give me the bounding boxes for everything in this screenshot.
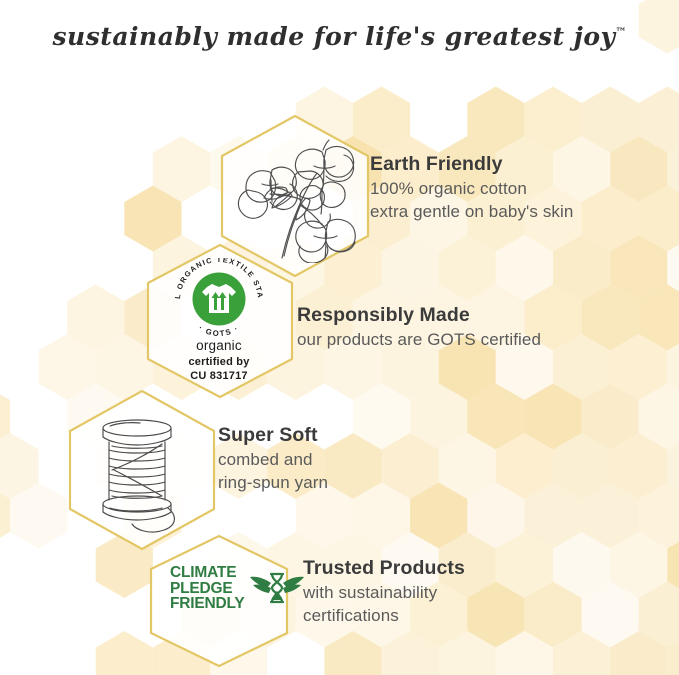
svg-text:· GOTS ·: · GOTS · [197,323,241,338]
gots-certificate-code: CU 831717 [139,370,299,384]
feature-text-earth-friendly: Earth Friendly 100% organic cotton extra… [370,152,573,223]
feature-title: Super Soft [218,423,328,447]
feature-line: extra gentle on baby's skin [370,201,573,223]
feature-title: Responsibly Made [297,303,541,327]
winged-hourglass-icon [250,567,304,609]
trademark-symbol: ™ [616,26,627,39]
gots-organic-label: organic [139,338,299,353]
gots-organic-certification-icon: GLOBAL ORGANIC TEXTILE STANDARD · GOTS · [165,258,273,338]
gots-certified-by-label: certified by [139,356,299,370]
feature-title: Earth Friendly [370,152,573,176]
cpf-line-1: CLIMATE [170,565,244,581]
climate-pledge-wordmark: CLIMATE PLEDGE FRIENDLY [170,565,244,612]
feature-line: 100% organic cotton [370,178,573,200]
feature-line: combed and [218,449,328,471]
headline-text: sustainably made for life's greatest joy [52,22,615,51]
cpf-line-2: PLEDGE [170,581,244,597]
feature-line: our products are GOTS certified [297,329,541,351]
thread-spool-sketch-icon [76,404,208,538]
promo-infographic: sustainably made for life's greatest joy… [0,0,679,675]
cpf-line-3: FRIENDLY [170,596,244,612]
feature-title: Trusted Products [303,556,465,580]
feature-line: ring-spun yarn [218,472,328,494]
climate-pledge-friendly-icon: CLIMATE PLEDGE FRIENDLY [170,565,304,612]
feature-line: with sustainability [303,582,465,604]
feature-text-super-soft: Super Soft combed and ring-spun yarn [218,423,328,494]
feature-line: certifications [303,605,465,627]
page-headline: sustainably made for life's greatest joy… [0,22,679,51]
gots-caption: organic certified by CU 831717 [139,338,299,384]
feature-text-trusted-products: Trusted Products with sustainability cer… [303,556,465,627]
cotton-branch-sketch-icon [226,128,366,263]
feature-text-responsibly-made: Responsibly Made our products are GOTS c… [297,303,541,352]
